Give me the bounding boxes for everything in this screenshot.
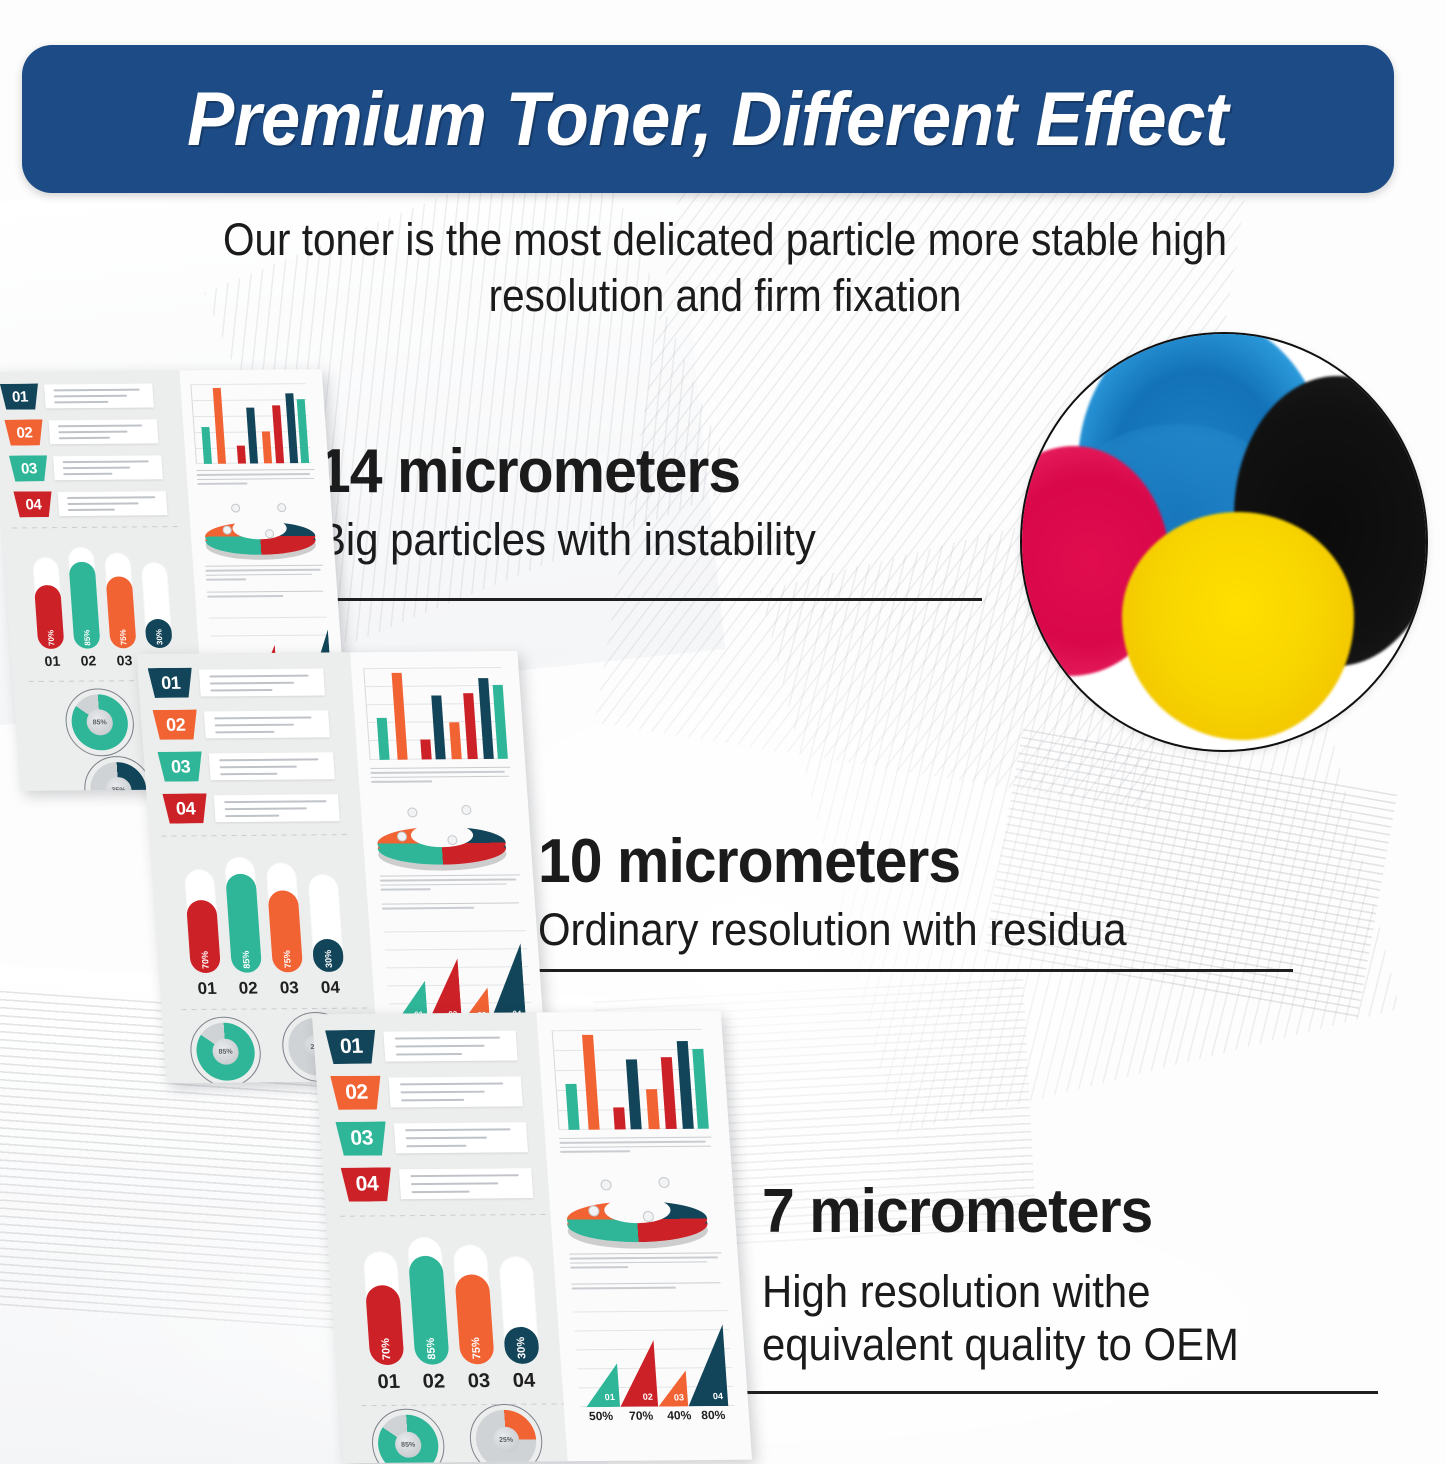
- triangle-label: 03: [674, 1392, 685, 1402]
- tag-03: 03: [9, 455, 49, 481]
- tag-03-text: [394, 1122, 528, 1153]
- tag-04-text: [214, 794, 340, 822]
- body-text-block: [381, 902, 522, 912]
- capsule-bar-chart-1: 70% 85% 75% 30: [27, 538, 185, 649]
- subtitle-line-1: Our toner is the most delicated particle…: [167, 212, 1283, 268]
- capsule-label: 02: [73, 652, 104, 668]
- capsule-bar-chart-2: 70% 85% 75% 30%: [178, 848, 359, 973]
- capsule-label: 01: [37, 653, 68, 669]
- capsule-track: 75%: [452, 1244, 494, 1364]
- callout-7-description-line-2: equivalent quality to OEM: [762, 1318, 1320, 1371]
- callout-7-micrometers: 7 micrometers High resolution withe equi…: [762, 1176, 1362, 1371]
- tag-02: 02: [4, 419, 44, 445]
- capsule-pct: 75%: [282, 950, 293, 968]
- tag-01-text: [383, 1031, 517, 1062]
- capsule-fill: 85%: [225, 874, 262, 973]
- callout-10-description: Ordinary resolution with residua: [538, 903, 1245, 956]
- donut-ring-chart-3: [564, 1173, 709, 1246]
- yellow-toner-pile: [1122, 512, 1354, 740]
- triangle-label: 02: [642, 1392, 653, 1402]
- tag-02-text: [49, 419, 159, 444]
- capsule-fill: 75%: [267, 890, 303, 973]
- tag-01-text: [199, 669, 325, 697]
- product-infographic-image: Premium Toner, Different Effect Our tone…: [0, 0, 1445, 1464]
- tag-03: 03: [335, 1121, 387, 1155]
- capsule-label: 01: [189, 979, 224, 999]
- cmyk-toner-powder-photo: [1020, 332, 1428, 752]
- capsule-track: 70%: [363, 1251, 405, 1365]
- column-bar-chart-1: [190, 383, 311, 464]
- callout-14-rule: [310, 589, 982, 609]
- capsule-track: 85%: [67, 547, 100, 649]
- callout-7-rule-line: [732, 1391, 1378, 1394]
- capsule-pct: 70%: [380, 1338, 394, 1360]
- capsule-label: 02: [414, 1370, 454, 1393]
- triangle-label: 04: [713, 1391, 724, 1401]
- callout-14-size: 14 micrometers: [318, 436, 964, 507]
- body-text-block: [570, 1252, 724, 1271]
- capsule-pct: 85%: [82, 630, 92, 646]
- capsule-label: 03: [459, 1370, 499, 1393]
- capsule-fill: 30%: [503, 1327, 540, 1364]
- triangle-pct: 40%: [667, 1408, 692, 1422]
- capsule-track: 30%: [307, 874, 344, 972]
- tag-04: 04: [341, 1167, 393, 1201]
- column-bar-chart-2: [363, 667, 508, 760]
- capsule-track: 70%: [184, 869, 221, 973]
- callout-14-rule-line: [326, 598, 982, 601]
- callout-10-rule: [503, 960, 1293, 980]
- body-text-block: [205, 565, 324, 584]
- infographic-sheet-3: 01 02 03 04: [312, 1011, 752, 1463]
- capsule-bar-chart-3: 70% 85% 75% 30%: [357, 1228, 557, 1365]
- tag-03: 03: [158, 751, 204, 781]
- tag-02-text: [389, 1076, 523, 1107]
- capsule-pct: 75%: [118, 629, 128, 645]
- capsule-pct: 30%: [154, 629, 164, 645]
- capsule-fill: 70%: [34, 585, 65, 649]
- capsule-fill: 30%: [312, 939, 344, 972]
- capsule-label: 04: [313, 978, 348, 998]
- capsule-pct: 70%: [46, 630, 56, 646]
- capsule-pct: 70%: [200, 951, 211, 969]
- tag-04-text: [58, 491, 168, 516]
- capsule-pct: 75%: [470, 1337, 484, 1359]
- capsule-label: 03: [109, 652, 140, 668]
- capsule-pct: 30%: [515, 1337, 529, 1359]
- tag-02: 02: [153, 710, 199, 740]
- donut-ring-chart-2: [374, 801, 507, 868]
- capsule-track: 30%: [498, 1256, 540, 1364]
- capsule-pct: 30%: [323, 950, 334, 968]
- capsule-track: 85%: [224, 857, 262, 973]
- header-banner: Premium Toner, Different Effect: [22, 45, 1394, 193]
- body-text-block: [379, 874, 520, 893]
- body-text-block: [572, 1282, 725, 1292]
- body-text-block: [370, 767, 511, 786]
- body-text-block: [196, 469, 315, 488]
- capsule-fill: 30%: [145, 619, 173, 648]
- tag-03-text: [209, 752, 335, 780]
- callout-14-description: Big particles with instability: [318, 513, 950, 566]
- tag-02: 02: [330, 1076, 382, 1110]
- column-bar-chart-3: [552, 1029, 709, 1130]
- donut-ring-chart-1: [203, 499, 317, 558]
- triangle-label: 01: [604, 1392, 615, 1402]
- subtitle-line-2: resolution and firm fixation: [167, 268, 1283, 324]
- capsule-track: 85%: [407, 1237, 450, 1365]
- page-title: Premium Toner, Different Effect: [188, 76, 1229, 163]
- tag-03-text: [53, 455, 163, 480]
- capsule-label: 02: [231, 978, 266, 998]
- callout-7-description-line-1: High resolution withe: [762, 1265, 1320, 1318]
- capsule-track: 75%: [104, 552, 137, 648]
- capsule-fill: 70%: [186, 900, 221, 973]
- tag-04: 04: [13, 491, 53, 517]
- capsule-fill: 75%: [106, 576, 137, 648]
- triangle-pct: 50%: [589, 1409, 614, 1423]
- capsule-pct: 85%: [425, 1338, 439, 1360]
- callout-10-rule-line: [519, 969, 1293, 972]
- capsule-label: 04: [504, 1370, 544, 1393]
- capsule-track: 70%: [32, 557, 64, 649]
- tag-01-text: [44, 384, 154, 409]
- capsule-label: 01: [369, 1371, 409, 1394]
- body-text-block: [560, 1137, 714, 1156]
- triangle-chart-2: 01 02 03 04: [383, 930, 532, 1023]
- callout-7-rule: [716, 1382, 1378, 1402]
- tag-04-text: [399, 1168, 533, 1199]
- capsule-label: 03: [272, 978, 307, 998]
- subtitle: Our toner is the most delicated particle…: [167, 212, 1283, 324]
- capsule-track: 75%: [266, 862, 304, 972]
- capsule-pct: 85%: [241, 951, 252, 969]
- callout-10-size: 10 micrometers: [538, 826, 1260, 897]
- capsule-track: 30%: [141, 562, 173, 648]
- capsule-fill: 70%: [365, 1285, 405, 1365]
- tag-04: 04: [162, 793, 208, 823]
- callout-10-micrometers: 10 micrometers Ordinary resolution with …: [538, 826, 1298, 956]
- tag-01: 01: [148, 668, 194, 698]
- tag-01: 01: [325, 1030, 377, 1064]
- tag-02-text: [204, 710, 330, 738]
- capsule-fill: 85%: [408, 1256, 450, 1365]
- callout-7-size: 7 micrometers: [762, 1176, 1332, 1247]
- tag-01: 01: [0, 384, 40, 410]
- triangle-chart-3: 01 02 03 04: [574, 1310, 735, 1407]
- triangle-pct: 80%: [701, 1408, 726, 1422]
- capsule-fill: 85%: [69, 562, 101, 649]
- capsule-fill: 75%: [454, 1274, 494, 1364]
- body-text-block: [207, 591, 326, 601]
- triangle-pct: 70%: [629, 1409, 654, 1423]
- callout-14-micrometers: 14 micrometers Big particles with instab…: [318, 436, 998, 566]
